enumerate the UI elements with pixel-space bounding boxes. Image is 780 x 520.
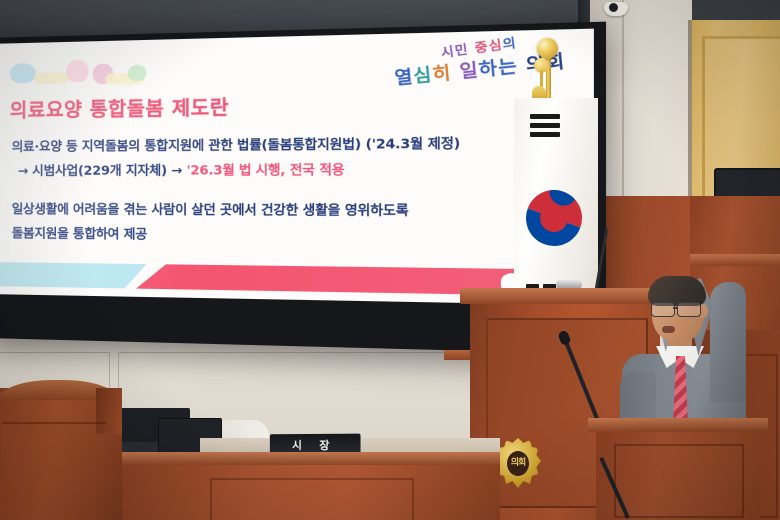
trigram-bar: [530, 132, 560, 137]
body-spacer: [12, 184, 582, 199]
trigram-bar: [530, 123, 560, 128]
lectern-top-edge: [588, 418, 768, 432]
pilot-text: → 시범사업(229개 지자체) →: [18, 162, 187, 178]
left-podium-face: [2, 422, 106, 520]
lectern-panel: [614, 444, 744, 518]
cartoon-decoration: [8, 54, 161, 96]
slogan-seg-5: 심: [413, 65, 434, 88]
slide-body: 의료·요양 등 지역돌봄의 통합지원에 관한 법률(돌봄통합지원법) ('24.…: [12, 131, 582, 253]
projection-screen: 시민 중심의 열심히 일하는 의회 의료요양 통합돌봄 제도란 의료·요양 등 …: [0, 29, 594, 306]
slide-line-purpose-2: 돌봄지원을 통합하여 제공: [12, 222, 582, 246]
security-camera-icon: [604, 2, 628, 16]
lens-left: [651, 302, 675, 317]
flagpole-finial-icon: [537, 38, 558, 59]
emblem-text: 의회: [507, 451, 529, 476]
blob-character-1: [10, 63, 36, 84]
presentation-slide: 시민 중심의 열심히 일하는 의회 의료요양 통합돌봄 제도란 의료·요양 등 …: [0, 29, 594, 306]
footer-blue-accent: [0, 262, 146, 289]
cloud-shape-1: [34, 72, 68, 84]
council-chamber-photo: 시민 중심의 열심히 일하는 의회 의료요양 통합돌봄 제도란 의료·요양 등 …: [0, 0, 780, 520]
slide-title: 의료요양 통합돌봄 제도란: [10, 92, 229, 123]
blob-character-2: [66, 60, 88, 83]
desk-edge: [690, 254, 780, 266]
trigram-bar: [530, 114, 560, 119]
mouth: [662, 326, 675, 333]
pilot-highlight: '26.3월 법 시행, 전국 적용: [186, 161, 344, 177]
center-desk: [120, 452, 500, 520]
council-emblem: 의회: [495, 438, 541, 488]
slogan-seg-7: 일: [451, 60, 480, 84]
suit-shoulder: [710, 282, 746, 402]
slide-line-pilot: → 시범사업(229개 지자체) → '26.3월 법 시행, 전국 적용: [12, 157, 582, 179]
eyeglasses-icon: [649, 302, 705, 315]
taeguk-symbol: [518, 182, 590, 254]
slide-line-purpose-1: 일상생활에 어려움을 겪는 사람이 살던 곳에서 건강한 생활을 영위하도록: [12, 198, 582, 220]
lens-right: [677, 302, 701, 317]
law-text: 의료·요양 등 지역돌봄의 통합지원에 관한 법률(돌봄통합지원법): [12, 136, 361, 154]
flag-tassel: [526, 58, 556, 104]
glasses-bridge: [673, 307, 678, 309]
law-date: ('24.3월 제정): [361, 135, 460, 152]
slide-line-law: 의료·요양 등 지역돌봄의 통합지원에 관한 법률(돌봄통합지원법) ('24.…: [12, 131, 582, 155]
desk-edge: [120, 452, 500, 465]
desk-panel: [210, 478, 414, 520]
slogan-seg-4: 열: [394, 66, 415, 89]
left-podium: [0, 388, 122, 520]
slogan-seg-8: 하는: [478, 56, 519, 82]
blob-character-4: [128, 65, 147, 82]
